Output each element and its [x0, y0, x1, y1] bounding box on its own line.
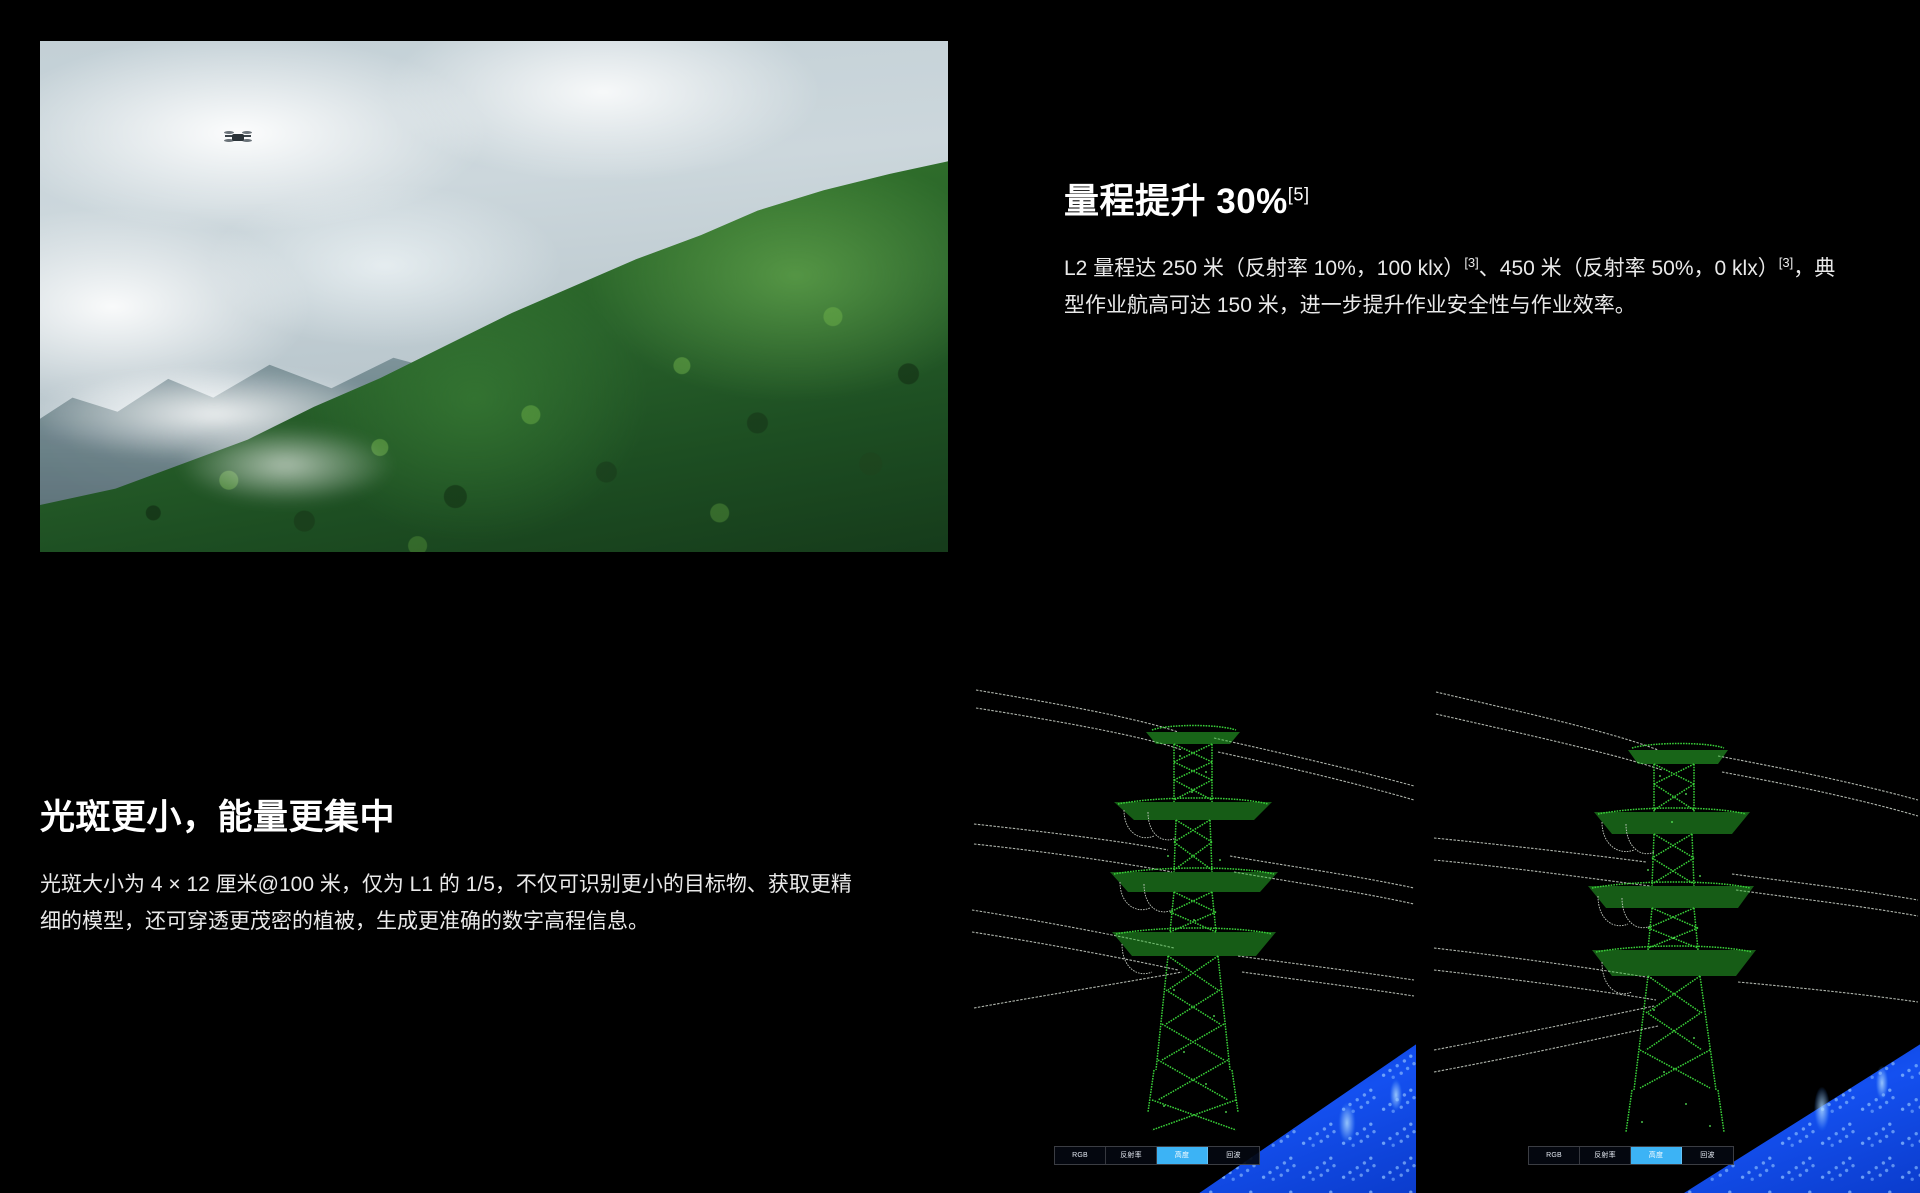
point-cloud-right[interactable]: RGB 反射率 高度 回波	[1432, 660, 1920, 1193]
cloud-mist-low	[131, 409, 440, 521]
toolbar-button-rgb[interactable]: RGB	[1529, 1147, 1580, 1164]
range-headline: 量程提升 30%[5]	[1064, 180, 1854, 224]
toolbar-button-reflectivity[interactable]: 反射率	[1580, 1147, 1631, 1164]
hero-photo	[40, 41, 948, 552]
point-cloud-left[interactable]: RGB 反射率 高度 回波	[968, 660, 1416, 1193]
terrain-tree	[1874, 1061, 1890, 1105]
toolbar-button-height[interactable]: 高度	[1157, 1147, 1208, 1164]
toolbar-button-rgb[interactable]: RGB	[1055, 1147, 1106, 1164]
spot-headline: 光斑更小，能量更集中	[40, 796, 860, 840]
range-body: L2 量程达 250 米（反射率 10%，100 klx）[3]、450 米（反…	[1064, 250, 1854, 325]
range-body-footnote-1: [3]	[1464, 255, 1478, 270]
terrain-tree	[1388, 1075, 1404, 1115]
range-headline-cn: 量程提升	[1064, 182, 1206, 221]
range-body-footnote-2: [3]	[1779, 255, 1793, 270]
spot-body: 光斑大小为 4 × 12 厘米@100 米，仅为 L1 的 1/5，不仅可识别更…	[40, 866, 860, 941]
toolbar-button-height[interactable]: 高度	[1631, 1147, 1682, 1164]
point-cloud-left-toolbar[interactable]: RGB 反射率 高度 回波	[1054, 1146, 1260, 1165]
terrain-tree	[1812, 1081, 1832, 1137]
spot-section: 光斑更小，能量更集中 光斑大小为 4 × 12 厘米@100 米，仅为 L1 的…	[40, 796, 860, 941]
range-headline-footnote: [5]	[1288, 184, 1310, 204]
range-body-part1: L2 量程达 250 米（反射率 10%，100 klx）	[1064, 257, 1464, 280]
drone-icon	[225, 130, 251, 144]
toolbar-button-echo[interactable]: 回波	[1208, 1147, 1259, 1164]
range-section: 量程提升 30%[5] L2 量程达 250 米（反射率 10%，100 klx…	[1064, 180, 1854, 325]
terrain-tree	[1336, 1097, 1358, 1149]
range-body-part2: 、450 米（反射率 50%，0 klx）	[1479, 257, 1779, 280]
toolbar-button-echo[interactable]: 回波	[1682, 1147, 1733, 1164]
toolbar-button-reflectivity[interactable]: 反射率	[1106, 1147, 1157, 1164]
point-cloud-right-toolbar[interactable]: RGB 反射率 高度 回波	[1528, 1146, 1734, 1165]
range-headline-number: 30%	[1206, 182, 1288, 221]
